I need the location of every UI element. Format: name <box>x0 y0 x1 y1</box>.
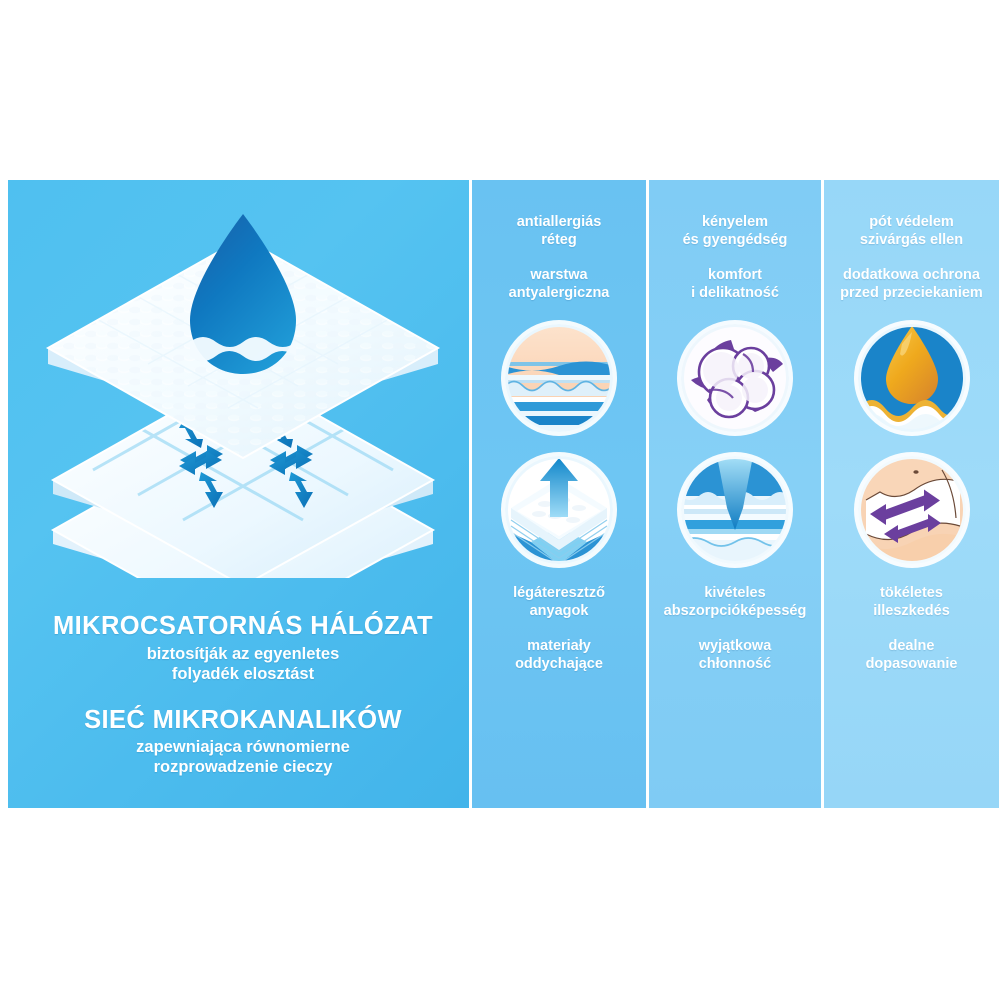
feature-column-leak-protection: pót védelem szivárgás ellen dodatkowa oc… <box>824 180 999 808</box>
col1-bottom-caption-hu: légáteresztző anyagok <box>513 585 605 621</box>
perfect-fit-body-arrows-icon <box>858 456 966 564</box>
col2-bottom-pl-line2: chłonność <box>699 656 772 674</box>
col2-hu-line1: kényelem <box>683 214 788 232</box>
col3-bottom-caption-hu: tökéletes illeszkedés <box>873 585 950 621</box>
col2-bottom-caption-pl: wyjątkowa chłonność <box>699 638 772 674</box>
feature-columns: antiallergiás réteg warstwa antyalergicz… <box>469 180 999 808</box>
col1-hu-line2: réteg <box>517 232 602 250</box>
feature-column-antiallergic: antiallergiás réteg warstwa antyalergicz… <box>472 180 646 808</box>
hero-title-pl: SIEĆ MIKROKANALIKÓW <box>8 706 469 735</box>
water-droplet-icon <box>190 214 296 374</box>
col1-bottom-pl-line2: oddychające <box>515 656 603 674</box>
hero-subtitle-hu-line2: folyadék elosztást <box>8 664 469 684</box>
col3-hu-line1: pót védelem <box>860 214 963 232</box>
col3-bottom-pl-line2: dopasowanie <box>866 656 958 674</box>
hero-divider-space <box>8 684 469 706</box>
layered-absorbent-diagram <box>8 208 469 578</box>
col3-bottom-hu-line2: illeszkedés <box>873 603 950 621</box>
absorption-arrow-down-icon <box>681 456 789 564</box>
col3-pl-line2: przed przeciekaniem <box>840 285 983 303</box>
cotton-boll-icon <box>681 324 789 432</box>
col2-hu-line2: és gyengédség <box>683 232 788 250</box>
col1-bottom-caption-pl: materiały oddychające <box>515 638 603 674</box>
hero-subtitle-hu-line1: biztosítják az egyenletes <box>8 644 469 664</box>
col2-pl-line2: i delikatność <box>691 285 779 303</box>
col3-bottom-pl-line1: dealne <box>866 638 958 656</box>
col2-caption-hu: kényelem és gyengédség <box>683 214 788 250</box>
col1-pl-line1: warstwa <box>509 267 610 285</box>
gold-droplet-barrier-icon <box>858 324 966 432</box>
col2-bottom-caption-hu: kivételes abszorpcióképesség <box>664 585 807 621</box>
hero-subtitle-pl-line1: zapewniająca równomierne <box>8 737 469 757</box>
col1-bottom-pl-line1: materiały <box>515 638 603 656</box>
col2-caption-pl: komfort i delikatność <box>691 267 779 303</box>
col1-hu-line1: antiallergiás <box>517 214 602 232</box>
breathable-layers-arrow-up-icon <box>505 456 613 564</box>
col3-caption-pl: dodatkowa ochrona przed przeciekaniem <box>840 267 983 303</box>
col2-bottom-pl-line1: wyjątkowa <box>699 638 772 656</box>
col3-pl-line1: dodatkowa ochrona <box>840 267 983 285</box>
hero-subtitle-pl-line2: rozprowadzenie cieczy <box>8 757 469 777</box>
hero-text-block: MIKROCSATORNÁS HÁLÓZAT biztosítják az eg… <box>8 612 469 778</box>
col1-caption-hu: antiallergiás réteg <box>517 214 602 250</box>
col1-bottom-hu-line1: légáteresztző <box>513 585 605 603</box>
col1-bottom-hu-line2: anyagok <box>513 603 605 621</box>
hero-panel: MIKROCSATORNÁS HÁLÓZAT biztosítják az eg… <box>8 180 469 808</box>
col1-caption-pl: warstwa antyalergiczna <box>509 267 610 303</box>
col3-hu-line2: szivárgás ellen <box>860 232 963 250</box>
col2-bottom-hu-line1: kivételes <box>664 585 807 603</box>
hero-title-hu: MIKROCSATORNÁS HÁLÓZAT <box>8 612 469 641</box>
col3-bottom-caption-pl: dealne dopasowanie <box>866 638 958 674</box>
col3-caption-hu: pót védelem szivárgás ellen <box>860 214 963 250</box>
feature-column-comfort: kényelem és gyengédség komfort i delikat… <box>649 180 821 808</box>
col2-bottom-hu-line2: abszorpcióképesség <box>664 603 807 621</box>
col3-bottom-hu-line1: tökéletes <box>873 585 950 603</box>
col1-pl-line2: antyalergiczna <box>509 285 610 303</box>
col2-pl-line1: komfort <box>691 267 779 285</box>
infographic-root: MIKROCSATORNÁS HÁLÓZAT biztosítják az eg… <box>0 180 999 808</box>
skin-layers-icon <box>505 324 613 432</box>
